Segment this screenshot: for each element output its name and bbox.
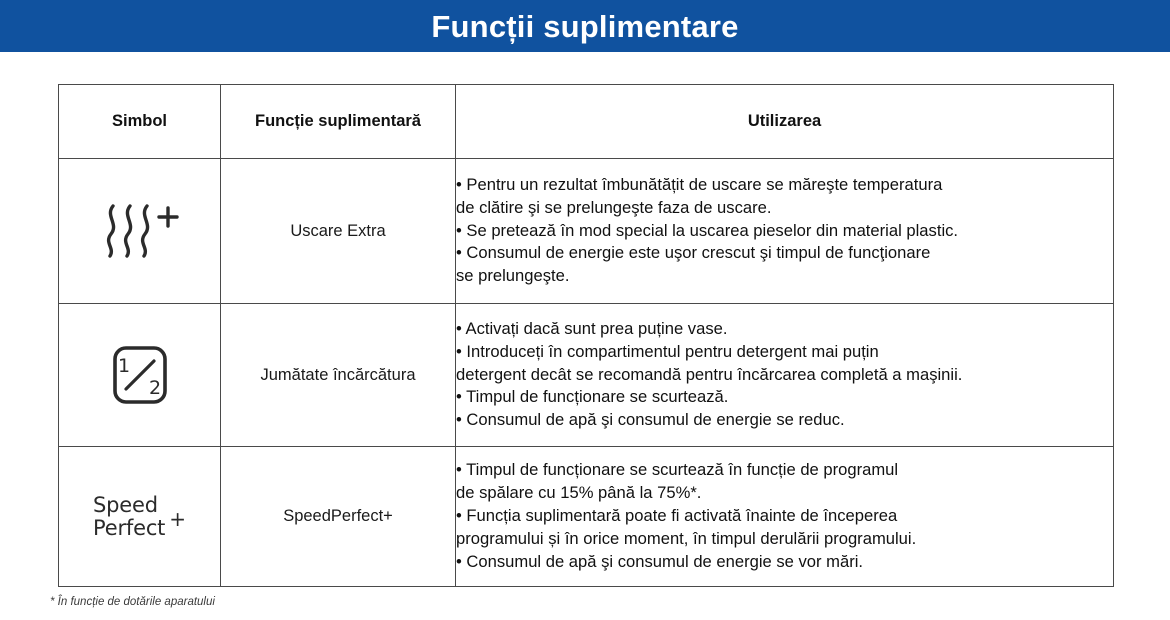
usage-line: de spălare cu 15% până la 75%*.	[456, 482, 1113, 505]
usage-line: • Funcția suplimentară poate fi activată…	[456, 505, 1113, 528]
page-title: Funcții suplimentare	[431, 11, 738, 42]
additional-functions-table: Simbol Funcție suplimentară Utilizarea	[58, 84, 1114, 587]
footnote: * În funcție de dotările aparatului	[50, 596, 215, 608]
speed-perfect-plus-icon: Speed Perfect +	[93, 495, 186, 539]
table-row: Speed Perfect + SpeedPerfect+ • Timpul d…	[59, 447, 1114, 587]
half-load-one-half-box-icon: 1 2	[59, 344, 220, 406]
usage-line: • Pentru un rezultat îmbunătățit de usca…	[456, 174, 1113, 197]
usage-line: • Activați dacă sunt prea puține vase.	[456, 318, 1113, 341]
usage-cell: • Pentru un rezultat îmbunătățit de usca…	[456, 159, 1114, 304]
functions-table-container: Simbol Funcție suplimentară Utilizarea	[58, 84, 1113, 587]
table-row: Uscare Extra • Pentru un rezultat îmbună…	[59, 159, 1114, 304]
column-header-symbol: Simbol	[59, 85, 221, 159]
usage-line: programului și în orice moment, în timpu…	[456, 528, 1113, 551]
usage-cell: • Activați dacă sunt prea puține vase. •…	[456, 304, 1114, 447]
usage-cell: • Timpul de funcționare se scurtează în …	[456, 447, 1114, 587]
usage-line: • Se pretează în mod special la uscarea …	[456, 220, 1113, 243]
usage-line: se prelungeşte.	[456, 265, 1113, 288]
symbol-cell: Speed Perfect +	[59, 447, 221, 587]
table-header-row: Simbol Funcție suplimentară Utilizarea	[59, 85, 1114, 159]
column-header-usage: Utilizarea	[456, 85, 1114, 159]
extra-drying-steam-plus-icon	[59, 200, 220, 262]
svg-text:2: 2	[148, 377, 160, 399]
function-name-cell: Jumătate încărcătura	[221, 304, 456, 447]
usage-line: • Consumul de energie este uşor crescut …	[456, 242, 1113, 265]
column-header-function: Funcție suplimentară	[221, 85, 456, 159]
usage-line: • Consumul de apă şi consumul de energie…	[456, 409, 1113, 432]
table-row: 1 2 Jumătate încărcătura • Activați dacă…	[59, 304, 1114, 447]
usage-line: • Timpul de funcționare se scurtează.	[456, 386, 1113, 409]
plus-sign: +	[169, 507, 186, 531]
usage-line: • Consumul de apă şi consumul de energie…	[456, 551, 1113, 574]
perfect-word: Perfect	[93, 518, 165, 539]
usage-line: de clătire şi se prelungeşte faza de usc…	[456, 197, 1113, 220]
usage-line: detergent decât se recomandă pentru încă…	[456, 364, 1113, 387]
function-name-cell: SpeedPerfect+	[221, 447, 456, 587]
usage-line: • Introduceți în compartimentul pentru d…	[456, 341, 1113, 364]
svg-text:1: 1	[117, 355, 129, 377]
page-root: Funcții suplimentare Simbol Funcție supl…	[0, 0, 1170, 620]
speed-word: Speed	[93, 495, 158, 516]
symbol-cell: 1 2	[59, 304, 221, 447]
page-header-banner: Funcții suplimentare	[0, 0, 1170, 52]
usage-line: • Timpul de funcționare se scurtează în …	[456, 459, 1113, 482]
symbol-cell	[59, 159, 221, 304]
function-name-cell: Uscare Extra	[221, 159, 456, 304]
